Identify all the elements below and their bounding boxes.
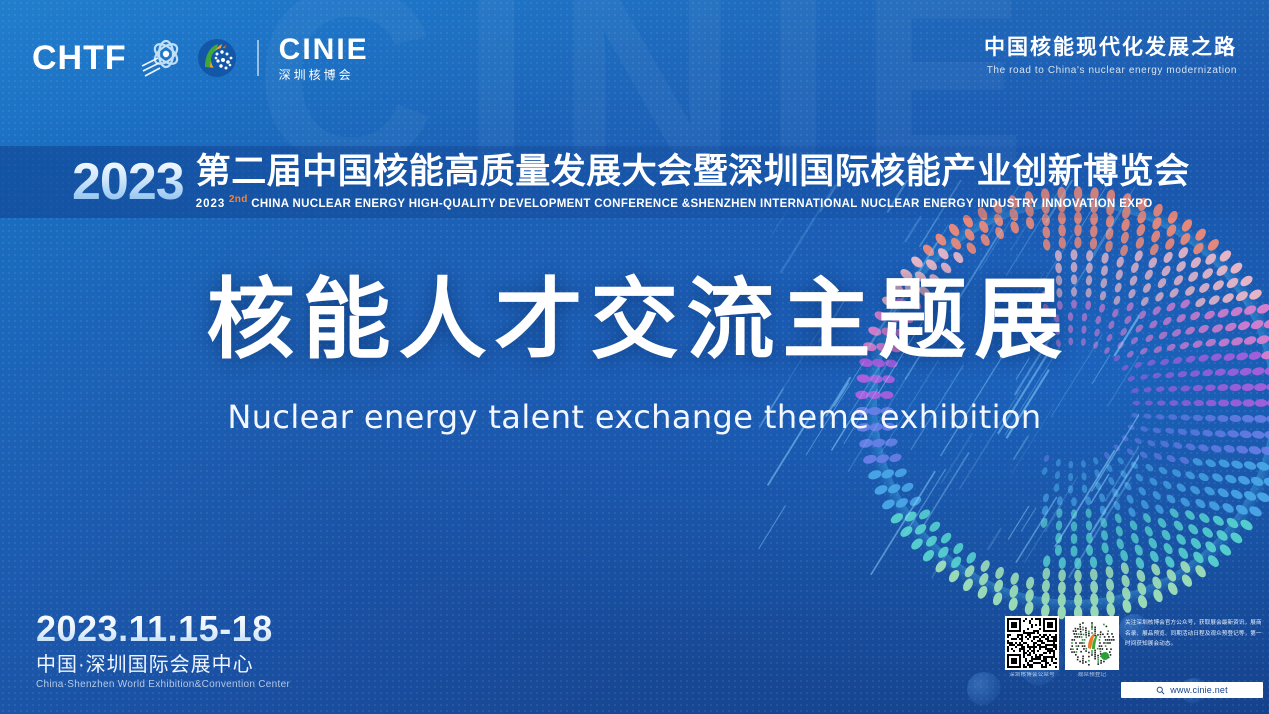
cinie-globe-leaf-icon bbox=[197, 38, 237, 78]
visitor-registration-qr-caption: 观众预登记 bbox=[1065, 672, 1119, 679]
headline: 核能人才交流主题展 Nuclear energy talent exchange… bbox=[0, 276, 1269, 436]
chtf-atom-icon bbox=[139, 36, 185, 80]
event-info: 2023.11.15-18 中国·深圳国际会展中心 China·Shenzhen… bbox=[36, 611, 290, 690]
wechat-official-qr-caption: 深圳核博会公众号 bbox=[1005, 672, 1059, 679]
conference-title-english: 2023 2nd CHINA NUCLEAR ENERGY HIGH-QUALI… bbox=[196, 194, 1190, 210]
logo-divider bbox=[257, 40, 259, 76]
conference-year: 2023 bbox=[72, 156, 184, 208]
footer-note: 关注深圳核博会官方公众号，获取展会最新资讯，展商名录、展品预览、同期活动日程及观… bbox=[1125, 616, 1263, 649]
conference-ordinal: 2nd bbox=[229, 194, 248, 205]
conference-english-year: 2023 bbox=[196, 198, 226, 210]
headline-chinese: 核能人才交流主题展 bbox=[8, 276, 1269, 364]
bokeh-circle bbox=[967, 672, 1001, 706]
cinie-wordmark: CINIE bbox=[279, 35, 369, 65]
logo-lockup[interactable]: CHTF bbox=[32, 35, 369, 81]
event-venue-chinese: 中国·深圳国际会展中心 bbox=[36, 654, 290, 676]
visitor-registration-qr[interactable]: 观众预登记 bbox=[1065, 616, 1119, 679]
wechat-official-qr[interactable]: 深圳核博会公众号 bbox=[1005, 616, 1059, 679]
conference-title-chinese: 第二届中国核能高质量发展大会暨深圳国际核能产业创新博览会 bbox=[196, 154, 1190, 191]
chtf-wordmark: CHTF bbox=[32, 41, 127, 75]
footer-qr-block: 深圳核博会公众号 观众预登记 关注深圳核博会官方公众号，获取展会最新资讯，展商名… bbox=[1005, 616, 1263, 698]
slogan-english: The road to China's nuclear energy moder… bbox=[984, 65, 1237, 76]
visitor-registration-qr-image[interactable] bbox=[1065, 616, 1119, 670]
cinie-chinese-label: 深圳核博会 bbox=[279, 69, 369, 81]
slogan-chinese: 中国核能现代化发展之路 bbox=[984, 36, 1237, 60]
search-icon bbox=[1156, 686, 1165, 695]
conference-english-text: CHINA NUCLEAR ENERGY HIGH-QUALITY DEVELO… bbox=[251, 198, 1152, 210]
wechat-official-qr-image[interactable] bbox=[1005, 616, 1059, 670]
website-url-bar[interactable]: www.cinie.net bbox=[1121, 682, 1263, 698]
slogan: 中国核能现代化发展之路 The road to China's nuclear … bbox=[984, 36, 1237, 76]
website-url: www.cinie.net bbox=[1170, 685, 1228, 695]
event-dates: 2023.11.15-18 bbox=[36, 611, 290, 647]
conference-title-band: 2023 第二届中国核能高质量发展大会暨深圳国际核能产业创新博览会 2023 2… bbox=[0, 146, 1269, 218]
event-venue-english: China·Shenzhen World Exhibition&Conventi… bbox=[36, 679, 290, 690]
headline-english: Nuclear energy talent exchange theme exh… bbox=[0, 398, 1269, 436]
event-poster: CINIE CHTF bbox=[0, 0, 1269, 714]
